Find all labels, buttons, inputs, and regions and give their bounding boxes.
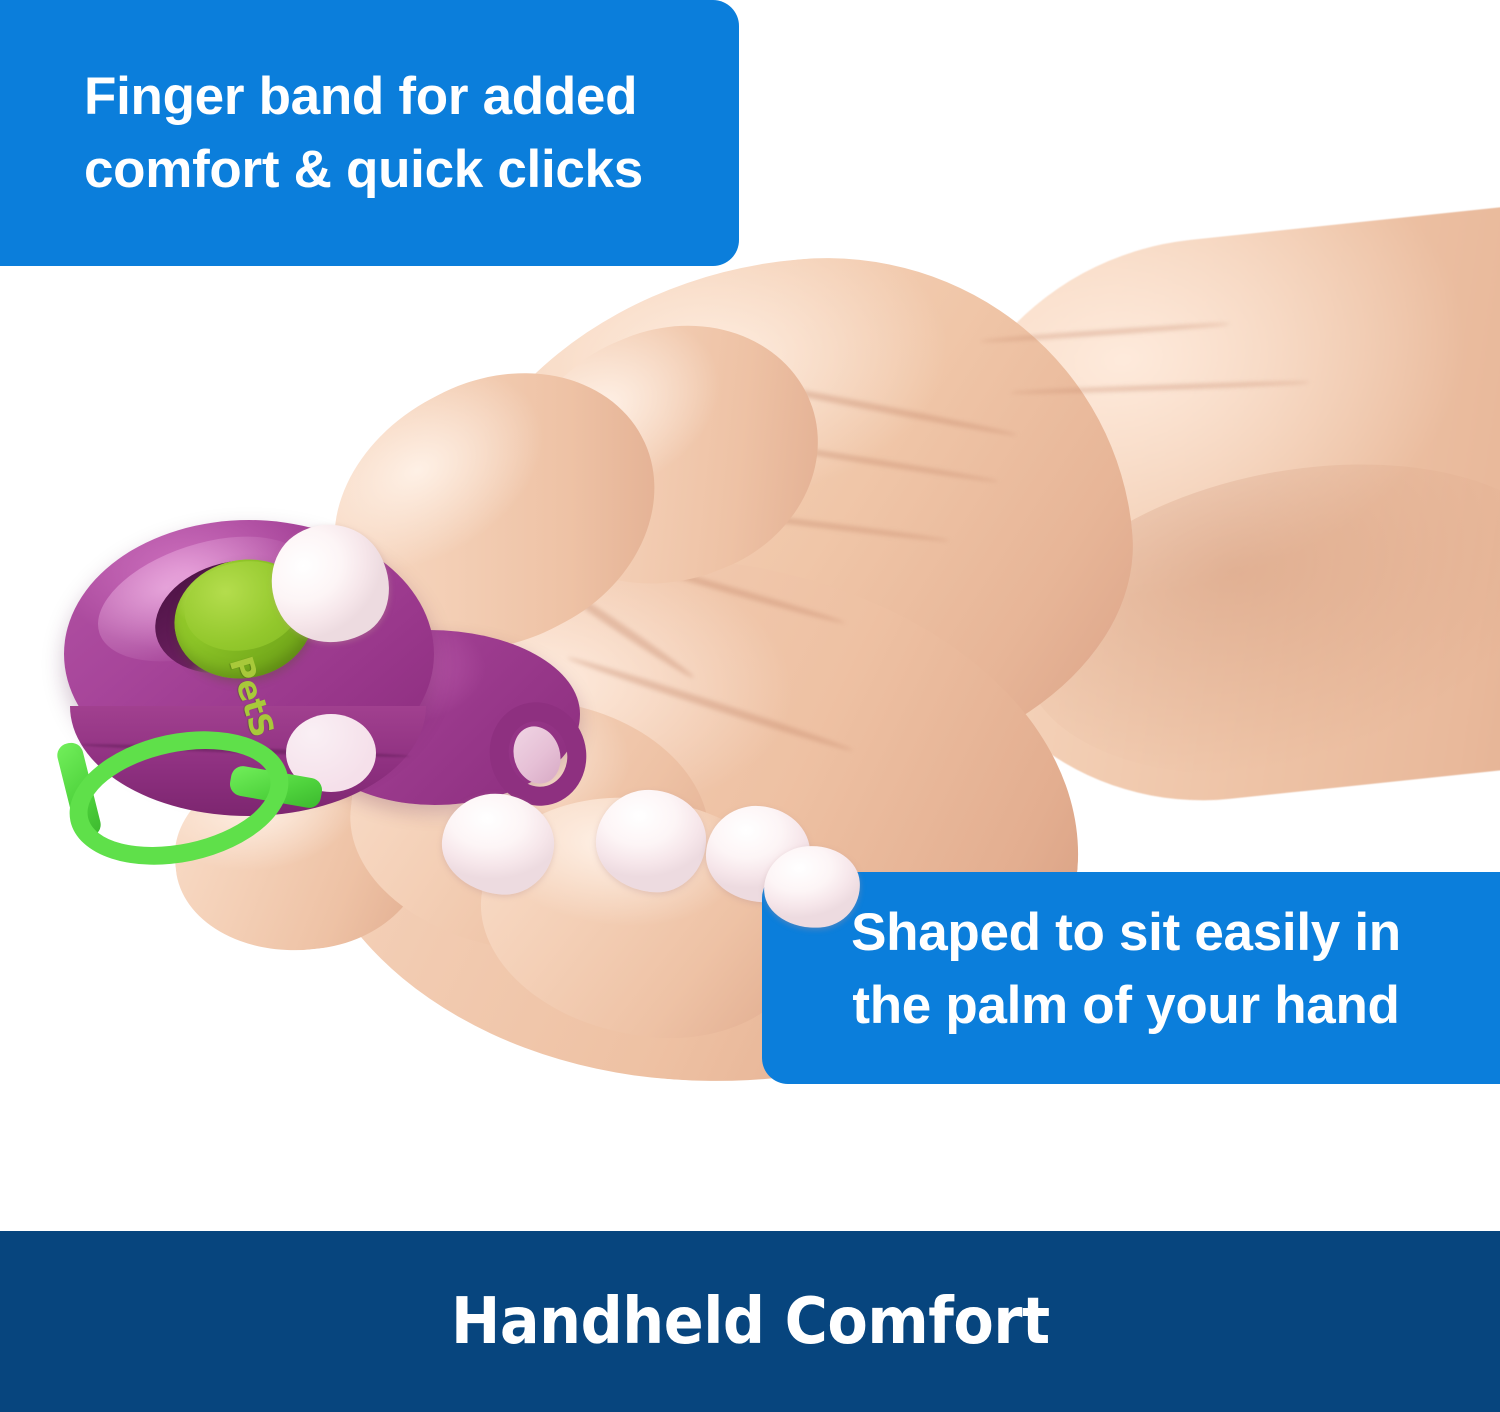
callout-finger-band: Finger band for added comfort & quick cl… xyxy=(0,0,739,266)
infographic-canvas: PetS Finger band for added comfort & qui… xyxy=(0,0,1500,1412)
callout-palm-shape: Shaped to sit easily in the palm of your… xyxy=(762,872,1500,1084)
footer-title: Handheld Comfort xyxy=(451,1285,1050,1359)
footer-banner: Handheld Comfort xyxy=(0,1231,1500,1412)
callout-line: the palm of your hand xyxy=(802,969,1450,1042)
callout-line: Shaped to sit easily in xyxy=(802,896,1450,969)
callout-line: comfort & quick clicks xyxy=(84,133,699,206)
callout-line: Finger band for added xyxy=(84,60,699,133)
